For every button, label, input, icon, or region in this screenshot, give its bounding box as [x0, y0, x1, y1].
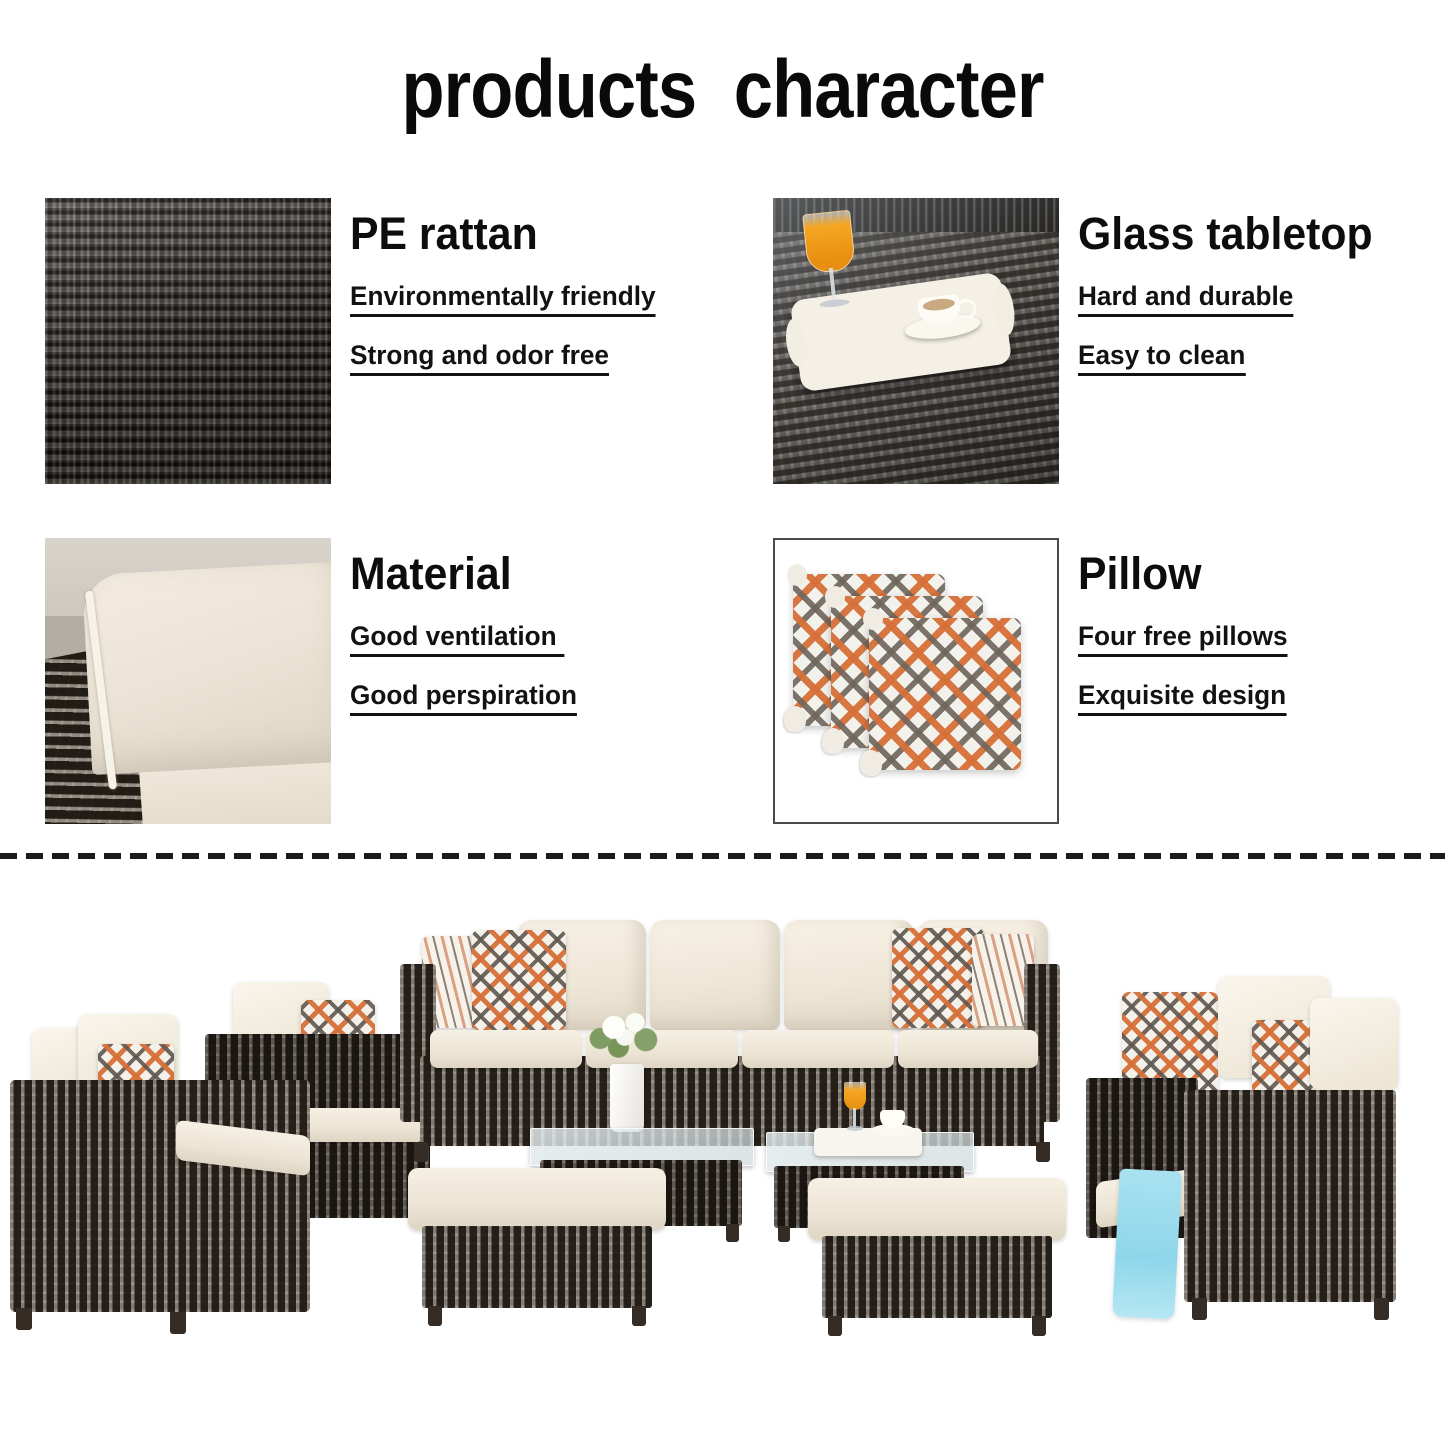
sofa-leg — [414, 1142, 428, 1162]
chair-leg — [16, 1308, 32, 1330]
armchair-right — [1080, 992, 1410, 1337]
table-leg — [778, 1226, 790, 1242]
ottoman-base — [822, 1236, 1052, 1318]
feature-grid: PE rattan Environmentally friendly Stron… — [0, 190, 1445, 840]
table-leg — [726, 1224, 739, 1242]
coffee-cup — [911, 291, 971, 338]
chair-leg — [1374, 1298, 1389, 1320]
feature-line-wrap: Hard and durable — [1078, 280, 1445, 339]
orange-juice-glass — [844, 1082, 866, 1136]
feature-heading-pillow: Pillow — [1078, 548, 1445, 600]
feature-line-wrap: Strong and odor free — [350, 339, 770, 398]
seat-cushion — [742, 1030, 894, 1068]
vase — [610, 1064, 644, 1132]
feature-line-strong-and-odor-free: Strong and odor free — [350, 339, 609, 376]
pillow-corner — [822, 728, 844, 754]
ottoman-cushion — [808, 1178, 1066, 1240]
page-title: products character — [101, 44, 1344, 136]
pillow-corner-top — [863, 608, 883, 630]
ottoman-cushion — [408, 1168, 666, 1230]
glass-stem — [829, 268, 837, 302]
armchair-left-front — [10, 1050, 310, 1335]
feature-line-hard-and-durable: Hard and durable — [1078, 280, 1293, 317]
chair-leg — [1192, 1298, 1207, 1320]
feature-line-easy-to-clean: Easy to clean — [1078, 339, 1245, 376]
cushion-material-scene — [45, 538, 331, 824]
feature-line-environmentally-friendly: Environmentally friendly — [350, 280, 656, 317]
coffee-cup — [876, 1110, 910, 1136]
feature-text-material: Material Good ventilation Good perspirat… — [350, 548, 770, 738]
pillow-corner-top — [825, 586, 845, 608]
feature-heading-pe-rattan: PE rattan — [350, 208, 749, 260]
throw-pillow-diamond-left — [472, 930, 566, 1030]
rattan-weave-texture — [45, 198, 331, 484]
feature-line-wrap: Good perspiration — [350, 679, 770, 738]
throw-pillow-plain-2 — [1310, 998, 1398, 1090]
feature-line-wrap: Good ventilation — [350, 620, 770, 679]
feature-line-four-free-pillows: Four free pillows — [1078, 620, 1288, 657]
feature-text-pillow: Pillow Four free pillows Exquisite desig… — [1078, 548, 1445, 738]
pillow-3 — [869, 618, 1021, 770]
light-blue-throw-blanket — [1112, 1168, 1182, 1319]
feature-text-pe-rattan: PE rattan Environmentally friendly Stron… — [350, 208, 770, 398]
orange-juice-glass — [802, 210, 858, 310]
pillow-corner-top — [787, 564, 807, 586]
white-vase-with-flowers — [588, 1010, 664, 1132]
pe-rattan-image — [45, 198, 331, 484]
pillow-corner — [860, 750, 882, 776]
ottoman-leg — [428, 1306, 442, 1326]
armchair-frame — [1184, 1090, 1396, 1302]
pillow-corner — [784, 706, 806, 732]
seat-cushion — [430, 1030, 582, 1068]
glass-tabletop-image — [773, 198, 1059, 484]
dashed-divider — [0, 853, 1445, 859]
ottoman-left — [408, 1168, 666, 1330]
armchair-frame — [10, 1080, 310, 1312]
feature-line-exquisite-design: Exquisite design — [1078, 679, 1286, 716]
ottoman-leg — [632, 1306, 646, 1326]
feature-line-wrap: Four free pillows — [1078, 620, 1445, 679]
hero-furniture-set-image — [0, 880, 1445, 1445]
ottoman-base — [422, 1226, 652, 1308]
chair-leg — [170, 1312, 186, 1334]
feature-line-good-perspiration: Good perspiration — [350, 679, 577, 716]
feature-line-wrap: Environmentally friendly — [350, 280, 770, 339]
back-cushion — [650, 920, 780, 1030]
flower-bouquet — [588, 1010, 664, 1072]
back-cushion — [82, 561, 331, 775]
pillow-stack-scene — [775, 540, 1057, 822]
pillow-image — [773, 538, 1059, 824]
feature-heading-material: Material — [350, 548, 749, 600]
feature-line-good-ventilation: Good ventilation — [350, 620, 564, 657]
feature-heading-glass-tabletop: Glass tabletop — [1078, 208, 1445, 260]
ottoman-right — [808, 1178, 1066, 1340]
feature-text-glass-tabletop: Glass tabletop Hard and durable Easy to … — [1078, 208, 1445, 398]
glass-bowl — [802, 210, 856, 275]
sofa-leg — [1036, 1142, 1050, 1162]
material-image — [45, 538, 331, 824]
feature-line-wrap: Easy to clean — [1078, 339, 1445, 398]
throw-pillow-diamond-right — [892, 928, 984, 1028]
ottoman-leg — [1032, 1316, 1046, 1336]
seat-cushion — [898, 1030, 1038, 1068]
ottoman-leg — [828, 1316, 842, 1336]
glass-tabletop-scene — [773, 198, 1059, 484]
feature-line-wrap: Exquisite design — [1078, 679, 1445, 738]
